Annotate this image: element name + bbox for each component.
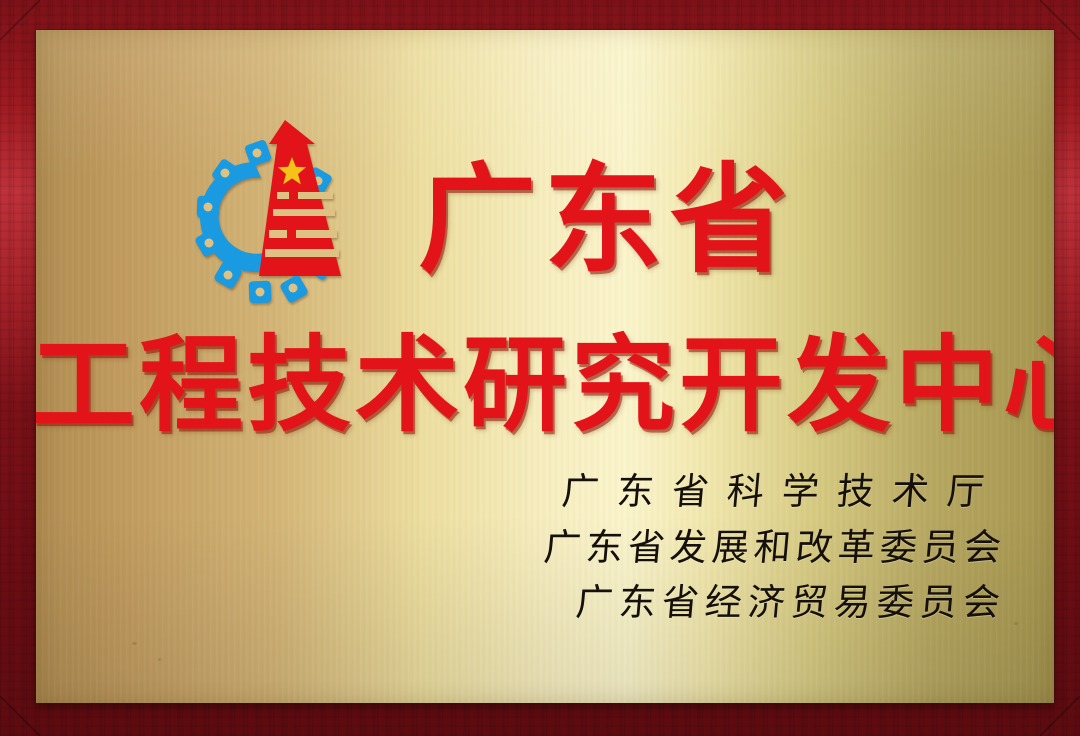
signature-line-2: 广东省发展和改革委员会	[542, 526, 1008, 570]
award-plaque: 广东省 工程技术研究开发中心 广东省科学技术厅 广东省发展和改革委员会 广东省经…	[0, 0, 1080, 736]
plate-speck	[132, 642, 137, 645]
page-title-line1: 广东省	[418, 150, 818, 290]
page-title-line2: 工程技术研究开发中心	[131, 325, 1011, 445]
erc-emblem-logo	[191, 118, 366, 313]
signature-line-3: 广东省经济贸易委员会	[574, 581, 1008, 625]
issuing-authorities: 广东省科学技术厅 广东省发展和改革委员会 广东省经济贸易委员会	[486, 470, 1006, 625]
signature-line-1: 广东省科学技术厅	[560, 470, 1008, 514]
plate-speck	[1014, 622, 1018, 625]
plate-speck	[158, 658, 161, 661]
frame-mitre-top-left	[0, 0, 40, 40]
frame-mitre-bottom-left	[0, 696, 40, 736]
brass-plate: 广东省 工程技术研究开发中心 广东省科学技术厅 广东省发展和改革委员会 广东省经…	[36, 30, 1054, 703]
